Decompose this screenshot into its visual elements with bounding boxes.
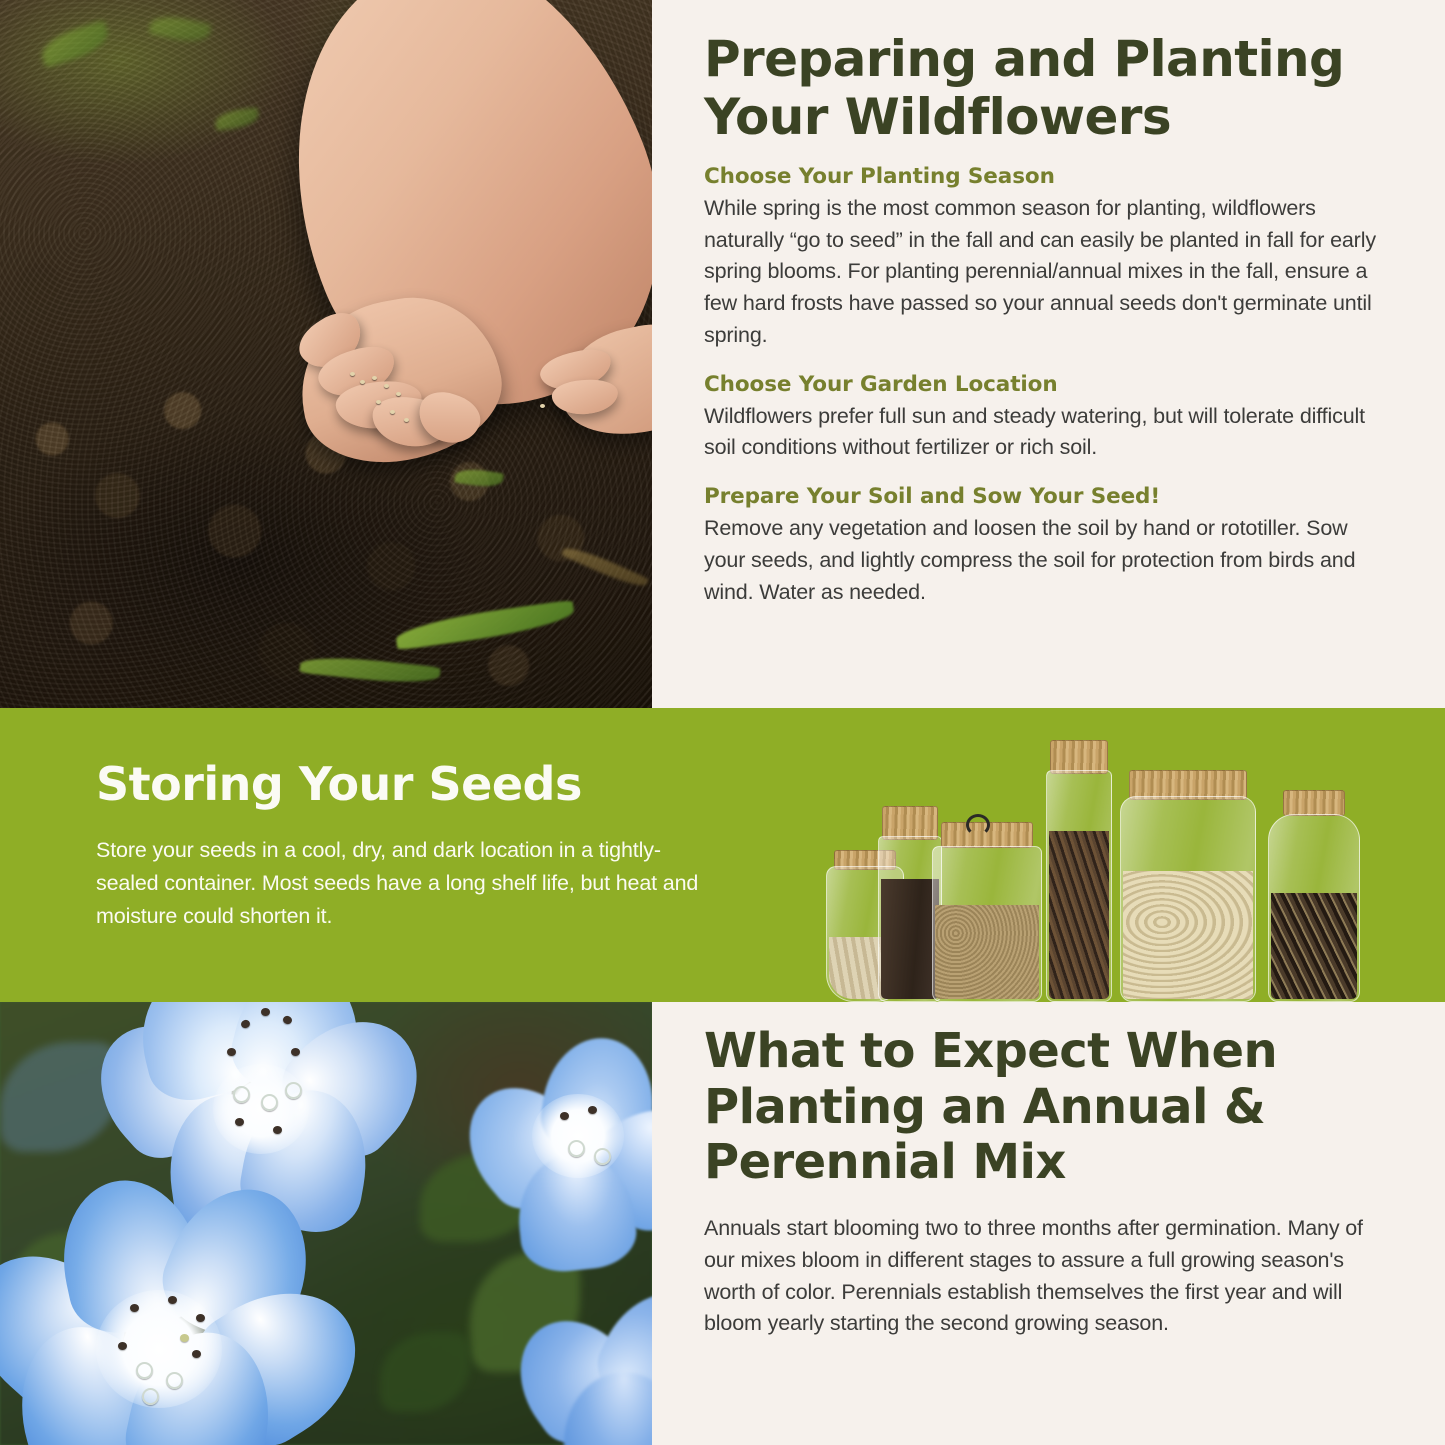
seed-jar [1268, 790, 1360, 1002]
stamen [196, 1314, 205, 1322]
paragraph-planting-season: While spring is the most common season f… [704, 193, 1390, 352]
cork-stopper [1050, 740, 1108, 774]
seed [404, 418, 409, 422]
stamen [261, 1008, 270, 1016]
seed-jar [1120, 770, 1256, 1002]
expect-text-column: What to Expect When Planting an Annual &… [652, 1002, 1445, 1445]
cork-stopper [1283, 790, 1345, 816]
subheading-prepare-soil: Prepare Your Soil and Sow Your Seed! [704, 484, 1390, 510]
hand-sowing-seeds-in-soil-photo [0, 0, 652, 708]
section-what-to-expect: What to Expect When Planting an Annual &… [0, 1002, 1445, 1445]
stamen [560, 1112, 569, 1120]
jar-lid-loop [966, 814, 990, 836]
jar-glass [1268, 814, 1360, 1002]
stamen-ring [594, 1148, 611, 1165]
flower-bloom [470, 1044, 652, 1244]
stamen [118, 1342, 127, 1350]
storing-paragraph: Store your seeds in a cool, dry, and dar… [96, 834, 716, 932]
seed [390, 410, 395, 414]
subheading-garden-location: Choose Your Garden Location [704, 372, 1390, 398]
stamen-pistil [180, 1334, 189, 1342]
planting-text-column: Preparing and Planting Your Wildflowers … [652, 0, 1445, 708]
page-title: Preparing and Planting Your Wildflowers [704, 30, 1390, 146]
stamen-ring [285, 1082, 302, 1099]
seed [360, 380, 365, 384]
stamen-ring [568, 1140, 585, 1157]
paragraph-garden-location: Wildflowers prefer full sun and steady w… [704, 401, 1390, 465]
jar-glass [1046, 770, 1112, 1002]
jar-glass [1120, 796, 1256, 1002]
paragraph-prepare-soil: Remove any vegetation and loosen the soi… [704, 513, 1390, 608]
section-storing-your-seeds: Storing Your Seeds Store your seeds in a… [0, 708, 1445, 1002]
stamen [130, 1304, 139, 1312]
stamen-ring [233, 1086, 250, 1103]
flower-center [532, 1094, 624, 1178]
stamen [227, 1048, 236, 1056]
storing-title: Storing Your Seeds [96, 760, 716, 808]
flower-bloom [520, 1292, 652, 1445]
stamen [192, 1350, 201, 1358]
seed [376, 400, 381, 404]
seed-jar [932, 822, 1042, 1002]
stamen-ring [136, 1362, 153, 1379]
flower-center [96, 1290, 222, 1408]
jar-contents-pumpkin-seeds [1123, 871, 1253, 999]
glass-jars-of-seeds-photo [820, 728, 1390, 1002]
stamen-ring [142, 1388, 159, 1405]
infographic-page: Preparing and Planting Your Wildflowers … [0, 0, 1445, 1445]
subheading-planting-season: Choose Your Planting Season [704, 164, 1390, 190]
stamen [235, 1118, 244, 1126]
seed [384, 384, 389, 388]
jar-glass [932, 846, 1042, 1002]
stamen [273, 1126, 282, 1134]
expect-paragraph: Annuals start blooming two to three mont… [704, 1213, 1395, 1340]
jar-contents-dark-seed [881, 879, 939, 999]
seed [396, 392, 401, 396]
jar-contents-brown-seed [1049, 831, 1109, 999]
seed-jar [1046, 740, 1112, 1002]
seed [350, 372, 355, 376]
stamen [291, 1048, 300, 1056]
stamen-ring [166, 1372, 183, 1389]
jar-contents-tan-seed [935, 905, 1039, 999]
flower-center [213, 1064, 309, 1154]
stamen [168, 1296, 177, 1304]
storing-text-block: Storing Your Seeds Store your seeds in a… [96, 760, 716, 932]
stamen [588, 1106, 597, 1114]
seed [540, 404, 545, 408]
stamen-ring [261, 1094, 278, 1111]
seed [372, 376, 377, 380]
cork-stopper [882, 806, 938, 840]
jar-contents-sunflower-seed [1271, 893, 1357, 999]
section-preparing-and-planting: Preparing and Planting Your Wildflowers … [0, 0, 1445, 708]
expect-title: What to Expect When Planting an Annual &… [704, 1024, 1395, 1191]
flower-bloom [0, 1184, 366, 1445]
blue-nemophila-flowers-photo [0, 1002, 652, 1445]
